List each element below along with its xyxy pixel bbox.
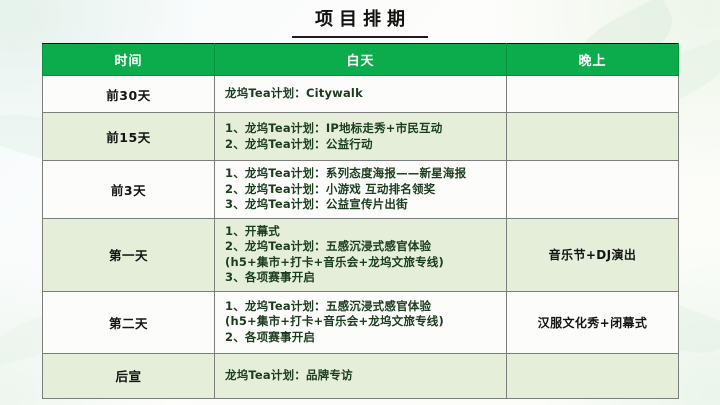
table-header-row: 时间 白天 晚上 (43, 44, 679, 76)
cell-night: 音乐节+DJ演出 (507, 218, 679, 291)
cell-night (507, 76, 679, 113)
cell-time: 前15天 (43, 113, 215, 161)
cell-day: 1、开幕式 2、龙坞Tea计划：五感沉浸式感官体验 (h5+集市+打卡+音乐会+… (215, 218, 507, 291)
slide-page: 项目排期 时间 白天 晚上 前30天 龙坞Tea计划：Citywalk 前15天… (0, 0, 720, 405)
cell-day: 龙坞Tea计划：品牌专访 (215, 353, 507, 398)
cell-time: 前3天 (43, 161, 215, 219)
cell-night (507, 353, 679, 398)
table-row: 第二天 1、龙坞Tea计划：五感沉浸式感官体验 (h5+集市+打卡+音乐会+龙坞… (43, 291, 679, 353)
cell-day: 1、龙坞Tea计划：系列态度海报——新星海报 2、龙坞Tea计划：小游戏 互动排… (215, 161, 507, 219)
cell-time: 前30天 (43, 76, 215, 113)
cell-night (507, 113, 679, 161)
table-row: 前3天 1、龙坞Tea计划：系列态度海报——新星海报 2、龙坞Tea计划：小游戏… (43, 161, 679, 219)
table-row: 前30天 龙坞Tea计划：Citywalk (43, 76, 679, 113)
cell-day: 龙坞Tea计划：Citywalk (215, 76, 507, 113)
cell-time: 第一天 (43, 218, 215, 291)
cell-night (507, 161, 679, 219)
column-header-night: 晚上 (507, 44, 679, 76)
cell-day: 1、龙坞Tea计划：IP地标走秀+市民互动 2、龙坞Tea计划：公益行动 (215, 113, 507, 161)
table-row: 后宣 龙坞Tea计划：品牌专访 (43, 353, 679, 398)
title-underline-rule (292, 36, 428, 38)
page-title: 项目排期 (0, 9, 720, 31)
table-row: 前15天 1、龙坞Tea计划：IP地标走秀+市民互动 2、龙坞Tea计划：公益行… (43, 113, 679, 161)
schedule-table: 时间 白天 晚上 前30天 龙坞Tea计划：Citywalk 前15天 1、龙坞… (42, 43, 679, 399)
column-header-day: 白天 (215, 44, 507, 76)
cell-night: 汉服文化秀+闭幕式 (507, 291, 679, 353)
cell-time: 第二天 (43, 291, 215, 353)
cell-day: 1、龙坞Tea计划：五感沉浸式感官体验 (h5+集市+打卡+音乐会+龙坞文旅专线… (215, 291, 507, 353)
column-header-time: 时间 (43, 44, 215, 76)
title-block: 项目排期 (0, 9, 720, 38)
cell-time: 后宣 (43, 353, 215, 398)
table-row: 第一天 1、开幕式 2、龙坞Tea计划：五感沉浸式感官体验 (h5+集市+打卡+… (43, 218, 679, 291)
